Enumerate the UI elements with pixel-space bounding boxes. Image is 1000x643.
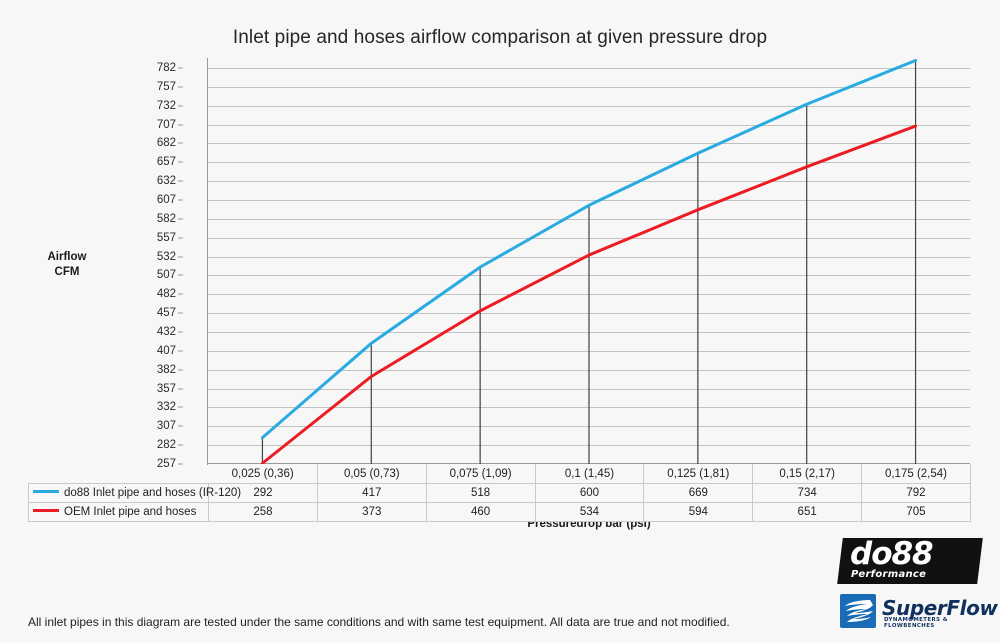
legend-label: do88 Inlet pipe and hoses (IR-120)	[64, 487, 241, 499]
data-table: 0,025 (0,36)0,05 (0,73)0,075 (1,09)0,1 (…	[28, 464, 971, 522]
y-tick-mark	[178, 181, 183, 182]
y-tick-label: 557	[157, 232, 176, 244]
x-tick-label: 0,05 (0,73)	[317, 464, 426, 484]
data-cell: 460	[426, 503, 535, 522]
y-axis-title-line1: Airflow	[22, 250, 112, 265]
table-row: OEM Inlet pipe and hoses2583734605345946…	[29, 503, 971, 522]
y-axis-tick-labels: 2572823073323573824074324574825075325575…	[0, 0, 208, 643]
table-corner-spacer	[29, 464, 209, 484]
x-tick-label: 0,1 (1,45)	[535, 464, 644, 484]
y-tick-mark	[178, 105, 183, 106]
y-tick-label: 507	[157, 269, 176, 281]
y-tick-label: 782	[157, 62, 176, 74]
y-tick-mark	[178, 237, 183, 238]
y-tick-label: 757	[157, 81, 176, 93]
y-tick-label: 407	[157, 345, 176, 357]
data-cell: 258	[209, 503, 318, 522]
y-axis-title-line2: CFM	[22, 265, 112, 280]
y-tick-label: 332	[157, 401, 176, 413]
superflow-swoosh-icon	[840, 594, 876, 628]
y-tick-label: 382	[157, 364, 176, 376]
x-tick-label: 0,125 (1,81)	[644, 464, 753, 484]
legend-label: OEM Inlet pipe and hoses	[64, 506, 196, 518]
do88-tagline: Performance	[851, 569, 926, 580]
footer-note: All inlet pipes in this diagram are test…	[28, 615, 730, 629]
y-tick-mark	[178, 256, 183, 257]
x-tick-label: 0,175 (2,54)	[862, 464, 971, 484]
y-tick-mark	[178, 294, 183, 295]
x-tick-label: 0,075 (1,09)	[426, 464, 535, 484]
x-axis-label-row: 0,025 (0,36)0,05 (0,73)0,075 (1,09)0,1 (…	[29, 464, 971, 484]
do88-wordmark: do88	[850, 538, 933, 571]
data-cell: 705	[862, 503, 971, 522]
y-tick-label: 482	[157, 288, 176, 300]
plot-area	[208, 68, 970, 464]
superflow-tagline: DYNAMOMETERS & FLOWBENCHES	[884, 617, 985, 629]
y-tick-label: 682	[157, 137, 176, 149]
y-tick-label: 307	[157, 420, 176, 432]
y-tick-mark	[178, 124, 183, 125]
data-cell: 600	[535, 484, 644, 503]
y-tick-mark	[178, 162, 183, 163]
data-cell: 669	[644, 484, 753, 503]
data-cell: 373	[317, 503, 426, 522]
y-tick-label: 457	[157, 307, 176, 319]
y-tick-label: 357	[157, 383, 176, 395]
data-cell: 594	[644, 503, 753, 522]
y-tick-label: 657	[157, 156, 176, 168]
y-tick-mark	[178, 313, 183, 314]
data-cell: 734	[753, 484, 862, 503]
y-tick-label: 632	[157, 175, 176, 187]
y-tick-label: 732	[157, 100, 176, 112]
table-row: do88 Inlet pipe and hoses (IR-120)292417…	[29, 484, 971, 503]
y-tick-mark	[178, 407, 183, 408]
y-tick-mark	[178, 426, 183, 427]
y-tick-label: 607	[157, 194, 176, 206]
y-tick-mark	[178, 68, 183, 69]
data-cell: 792	[862, 484, 971, 503]
y-tick-mark	[178, 332, 183, 333]
legend-entry-0[interactable]: do88 Inlet pipe and hoses (IR-120)	[29, 484, 209, 503]
superflow-logo: SuperFlow DYNAMOMETERS & FLOWBENCHES	[840, 592, 985, 632]
data-cell: 518	[426, 484, 535, 503]
legend-swatch-icon	[33, 490, 59, 493]
do88-logo: do88 Performance	[837, 538, 983, 584]
data-cell: 534	[535, 503, 644, 522]
y-tick-label: 432	[157, 326, 176, 338]
legend-entry-1[interactable]: OEM Inlet pipe and hoses	[29, 503, 209, 522]
y-tick-mark	[178, 350, 183, 351]
y-tick-mark	[178, 86, 183, 87]
y-tick-mark	[178, 200, 183, 201]
data-cell: 651	[753, 503, 862, 522]
y-tick-mark	[178, 445, 183, 446]
y-tick-label: 532	[157, 251, 176, 263]
y-tick-label: 282	[157, 439, 176, 451]
x-tick-label: 0,15 (2,17)	[753, 464, 862, 484]
y-tick-label: 707	[157, 119, 176, 131]
x-tick-label: 0,025 (0,36)	[209, 464, 318, 484]
y-tick-mark	[178, 275, 183, 276]
legend-swatch-icon	[33, 509, 59, 512]
y-tick-mark	[178, 388, 183, 389]
y-tick-mark	[178, 218, 183, 219]
y-axis-title: Airflow CFM	[22, 250, 112, 280]
y-tick-mark	[178, 143, 183, 144]
page-title: Inlet pipe and hoses airflow comparison …	[0, 27, 1000, 49]
y-tick-label: 582	[157, 213, 176, 225]
y-tick-mark	[178, 369, 183, 370]
data-cell: 417	[317, 484, 426, 503]
series-lines	[208, 68, 970, 464]
